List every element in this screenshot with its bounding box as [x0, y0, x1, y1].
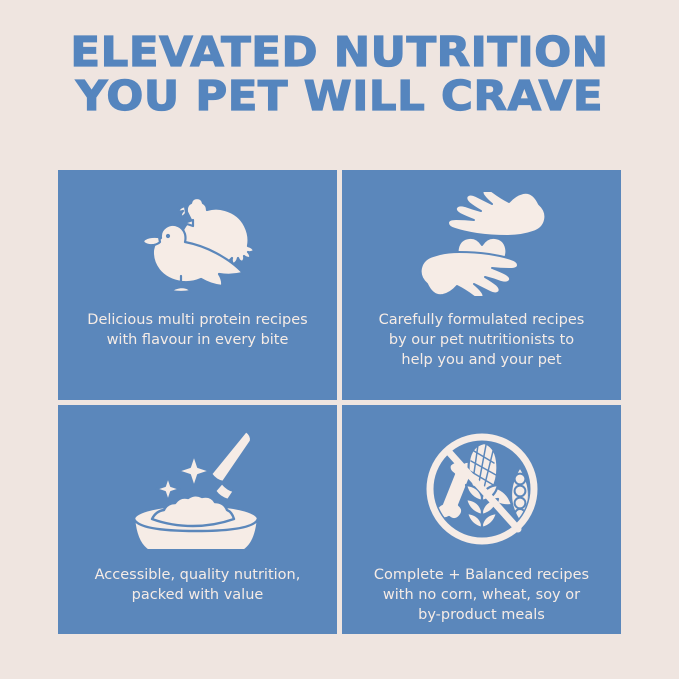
feature-panel-complete-balanced: Complete + Balanced recipes with no corn…	[342, 405, 621, 635]
feature-panel-quality-value: Accessible, quality nutrition, packed wi…	[58, 405, 337, 635]
page-title-line-2: YOU PET WILL CRAVE	[0, 74, 679, 118]
page-title: ELEVATED NUTRITION YOU PET WILL CRAVE	[0, 30, 679, 118]
feature-grid: Delicious multi protein recipes with fla…	[58, 170, 621, 634]
feature-panel-formulated: Carefully formulated recipes by our pet …	[342, 170, 621, 400]
infographic-page: ELEVATED NUTRITION YOU PET WILL CRAVE	[0, 0, 679, 679]
feature-panel-quality-value-text: Accessible, quality nutrition, packed wi…	[85, 565, 311, 605]
feature-panel-multi-protein-text: Delicious multi protein recipes with fla…	[77, 310, 317, 350]
chicken-duck-icon	[123, 190, 273, 296]
feature-panel-formulated-text: Carefully formulated recipes by our pet …	[369, 310, 595, 370]
no-corn-wheat-soy-icon	[420, 429, 544, 549]
feature-panel-multi-protein: Delicious multi protein recipes with fla…	[58, 170, 337, 400]
hands-heart-icon	[411, 192, 553, 296]
page-title-line-1: ELEVATED NUTRITION	[0, 30, 679, 74]
food-bowl-scoop-icon	[118, 427, 278, 549]
feature-panel-complete-balanced-text: Complete + Balanced recipes with no corn…	[364, 565, 599, 625]
